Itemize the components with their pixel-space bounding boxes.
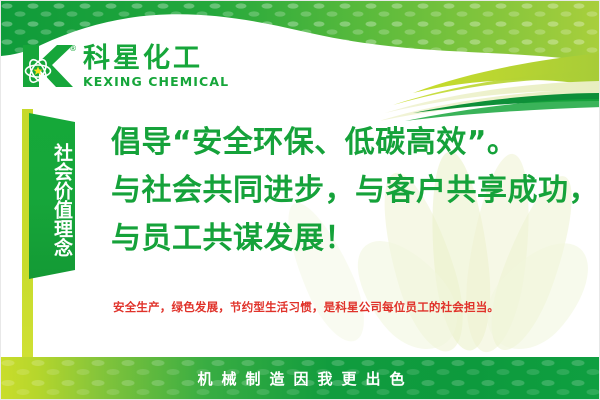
side-banner: 社会价值理念 (29, 113, 75, 279)
brand-logo: ® 科星化工 KEXING CHEMICAL (21, 43, 229, 89)
poster-canvas: ® 科星化工 KEXING CHEMICAL 社会价值理念 倡导“安全环保、低碳… (0, 0, 600, 400)
brand-name-cn: 科星化工 (83, 44, 229, 74)
brand-name-en: KEXING CHEMICAL (83, 75, 229, 89)
footer-slogan: 机械制造因我更出色 (1, 368, 600, 389)
supporting-statement: 安全生产，绿色发展，节约型生活习惯，是科星公司每位员工的社会担当。 (113, 299, 499, 315)
headline-block: 倡导“安全环保、低碳高效”。 与社会共同进步，与客户共享成功， 与员工共谋发展！ (111, 119, 581, 263)
side-banner-label: 社会价值理念 (29, 113, 75, 279)
registered-trademark-icon: ® (69, 44, 77, 53)
headline-line-2: 与社会共同进步，与客户共享成功， (111, 167, 581, 215)
headline-line-1: 倡导“安全环保、低碳高效”。 (111, 119, 581, 167)
footer-bar: 机械制造因我更出色 (1, 357, 600, 399)
brand-name-block: 科星化工 KEXING CHEMICAL (83, 44, 229, 89)
k-atom-logo-icon: ® (21, 43, 75, 89)
headline-line-3: 与员工共谋发展！ (111, 215, 581, 263)
